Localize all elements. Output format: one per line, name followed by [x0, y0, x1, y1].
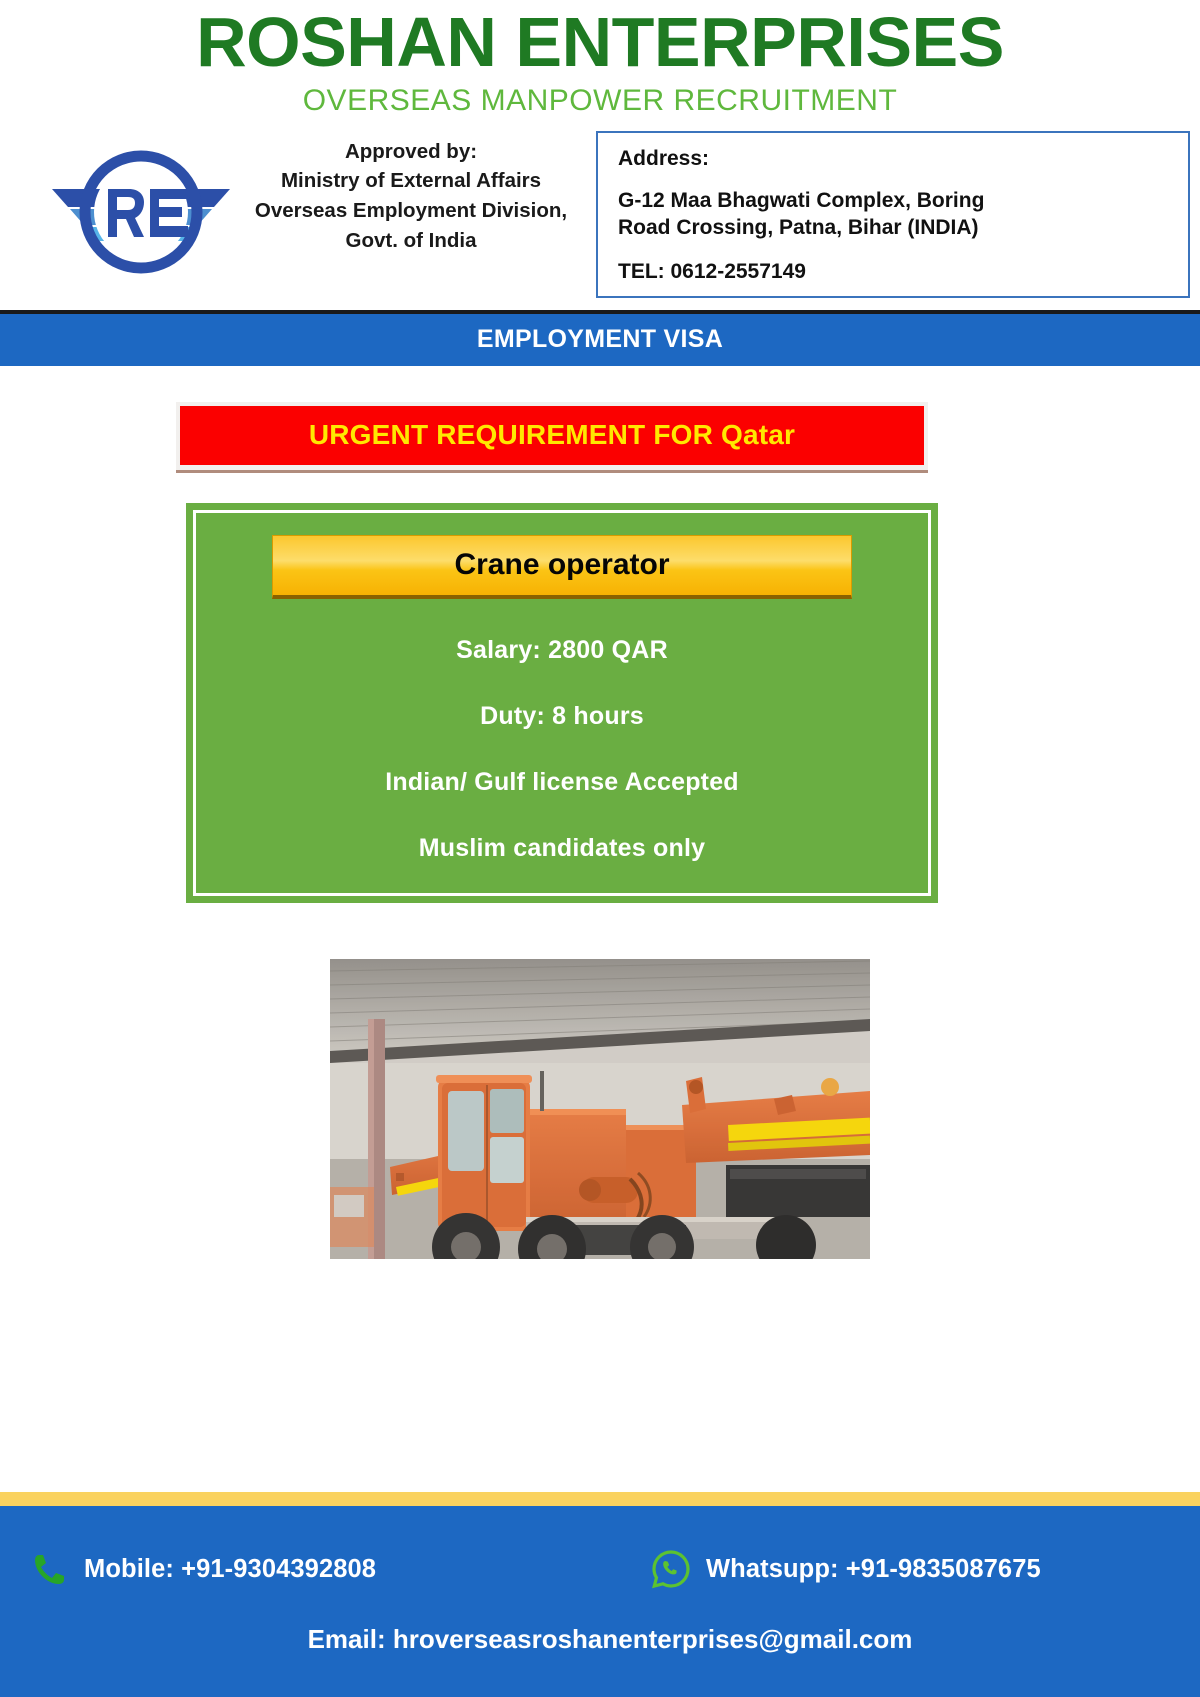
address-box: Address: G-12 Maa Bhagwati Complex, Bori…: [596, 131, 1190, 298]
address-line-1: G-12 Maa Bhagwati Complex, Boring: [618, 187, 1170, 215]
poster-body: URGENT REQUIREMENT FOR Qatar Crane opera…: [0, 366, 1200, 1412]
job-detail-salary: Salary: 2800 QAR: [224, 636, 900, 665]
email-row[interactable]: Email: hroverseasroshanenterprises@gmail…: [0, 1624, 1200, 1655]
crane-photo-illustration: [330, 959, 870, 1259]
job-detail-religion: Muslim candidates only: [224, 834, 900, 863]
job-title-text: Crane operator: [454, 548, 669, 581]
whatsapp-contact[interactable]: Whatsupp: +91-9835087675: [650, 1548, 1170, 1590]
mobile-contact[interactable]: Mobile: +91-9304392808: [30, 1549, 650, 1589]
page-footer: Mobile: +91-9304392808 Whatsupp: +91-983…: [0, 1492, 1200, 1697]
job-detail-license: Indian/ Gulf license Accepted: [224, 768, 900, 797]
page-header: ROSHAN ENTERPRISES OVERSEAS MANPOWER REC…: [0, 0, 1200, 314]
address-label: Address:: [618, 147, 1170, 171]
job-title-banner: Crane operator: [272, 535, 852, 599]
approval-line-2: Ministry of External Affairs: [246, 166, 576, 196]
whatsapp-number-text: Whatsupp: +91-9835087675: [706, 1555, 1041, 1584]
footer-contact-area: Mobile: +91-9304392808 Whatsupp: +91-983…: [0, 1506, 1200, 1697]
job-details-box: Crane operator Salary: 2800 QAR Duty: 8 …: [186, 503, 938, 903]
urgent-requirement-text: URGENT REQUIREMENT FOR Qatar: [309, 419, 795, 450]
roshan-enterprises-logo-icon: [46, 137, 236, 287]
employment-visa-banner: EMPLOYMENT VISA: [0, 314, 1200, 366]
address-telephone: TEL: 0612-2557149: [618, 260, 1170, 284]
address-line-2: Road Crossing, Patna, Bihar (INDIA): [618, 214, 1170, 242]
company-title: ROSHAN ENTERPRISES: [0, 0, 1200, 80]
job-detail-duty: Duty: 8 hours: [224, 702, 900, 731]
phone-icon: [30, 1549, 70, 1589]
approval-block: Approved by: Ministry of External Affair…: [246, 131, 576, 256]
contact-row: Mobile: +91-9304392808 Whatsupp: +91-983…: [0, 1548, 1200, 1590]
mobile-number-text: Mobile: +91-9304392808: [84, 1555, 376, 1584]
urgent-requirement-box: URGENT REQUIREMENT FOR Qatar: [180, 406, 924, 465]
approval-line-3: Overseas Employment Division,: [246, 196, 576, 226]
job-details-inner: Crane operator Salary: 2800 QAR Duty: 8 …: [193, 510, 931, 896]
footer-accent-strip: [0, 1492, 1200, 1506]
crane-photo: [330, 959, 870, 1259]
header-divider: [0, 310, 1200, 314]
approval-line-4: Govt. of India: [246, 226, 576, 256]
whatsapp-icon: [650, 1548, 692, 1590]
header-info-row: Approved by: Ministry of External Affair…: [0, 131, 1200, 298]
company-logo: [36, 131, 246, 287]
urgent-requirement-container: URGENT REQUIREMENT FOR Qatar: [176, 402, 928, 473]
company-subtitle: OVERSEAS MANPOWER RECRUITMENT: [0, 84, 1200, 117]
approval-line-1: Approved by:: [246, 137, 576, 167]
email-address-text: Email: hroverseasroshanenterprises@gmail…: [308, 1624, 913, 1654]
